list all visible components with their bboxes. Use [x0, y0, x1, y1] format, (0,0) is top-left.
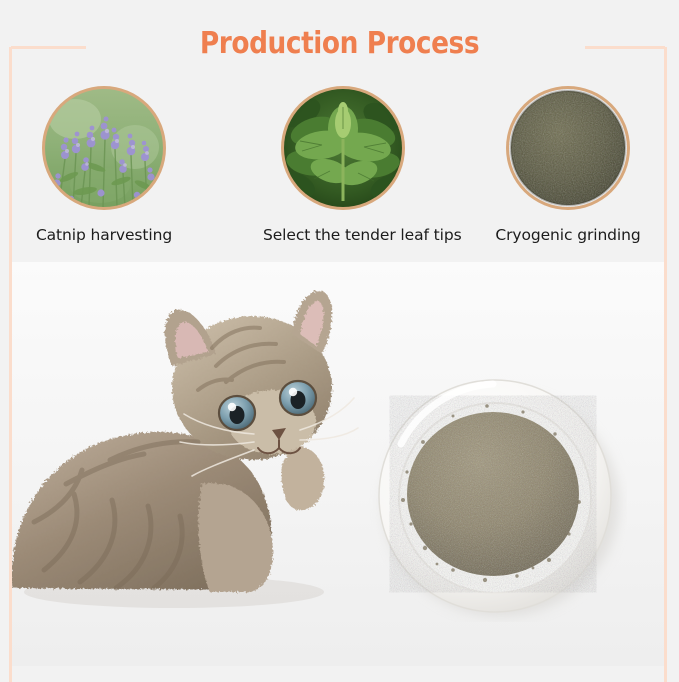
page-title: Production Process [41, 26, 639, 61]
step-image-frame [506, 86, 630, 210]
ground-catnip-powder-photo [509, 89, 627, 207]
step-label: Cryogenic grinding [488, 226, 648, 244]
process-step-cryogenic-grinding: Cryogenic grinding [488, 86, 648, 244]
process-step-select-leaf-tips: Select the tender leaf tips [263, 86, 423, 244]
tabby-kitten-photo [12, 270, 364, 610]
infographic-page: Production Process [0, 0, 679, 682]
process-steps: Catnip harvesting [0, 86, 679, 256]
step-image-frame [281, 86, 405, 210]
process-step-catnip-harvesting: Catnip harvesting [24, 86, 184, 244]
catnip-field-photo [45, 89, 163, 207]
catnip-leaves-photo [284, 89, 402, 207]
step-image-frame [42, 86, 166, 210]
step-label: Catnip harvesting [24, 226, 184, 244]
step-label: Select the tender leaf tips [263, 226, 423, 244]
hero-photo-area [12, 262, 664, 666]
catnip-bowl-photo [367, 372, 627, 622]
